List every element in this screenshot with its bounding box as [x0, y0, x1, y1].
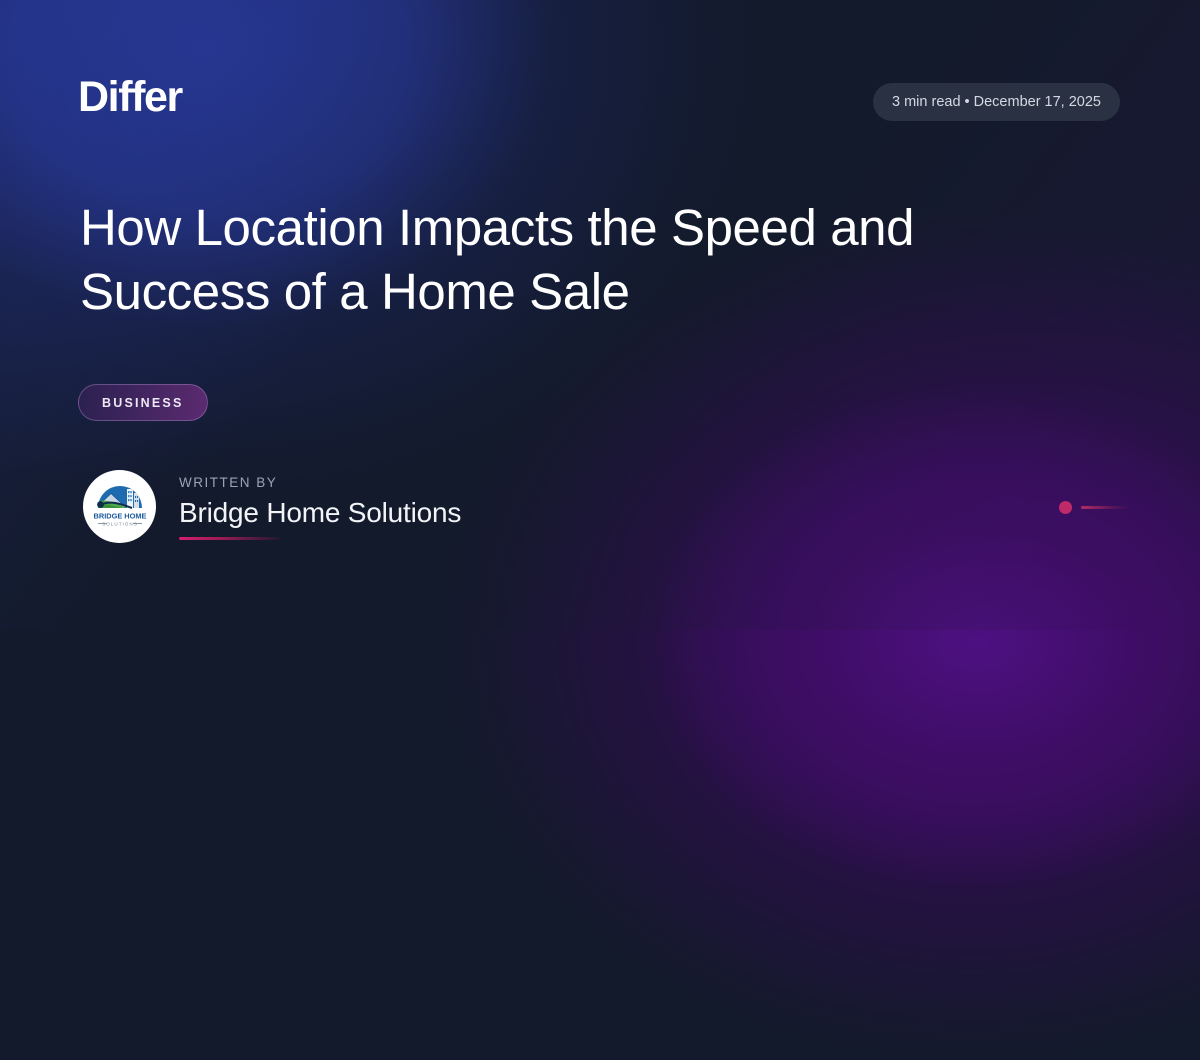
article-meta-badge: 3 min read • December 17, 2025 — [873, 83, 1120, 121]
meta-badge-label: 3 min read • December 17, 2025 — [892, 94, 1101, 110]
bridge-buildings-logo-icon: BRIDGE HOME SOLUTIONS — [91, 478, 149, 536]
written-by-label: WRITTEN BY — [179, 475, 461, 490]
avatar-logo-secondary-text: SOLUTIONS — [102, 521, 138, 526]
author-name[interactable]: Bridge Home Solutions — [179, 498, 461, 529]
avatar[interactable]: BRIDGE HOME SOLUTIONS — [83, 470, 156, 543]
category-badge[interactable]: BUSINESS — [78, 384, 208, 421]
article-cover-card: Differ 3 min read • December 17, 2025 Ho… — [0, 0, 1200, 630]
author-name-underline — [179, 537, 280, 540]
accent-line-icon — [1081, 506, 1129, 509]
page-title: How Location Impacts the Speed and Succe… — [80, 196, 980, 325]
author-details: WRITTEN BY Bridge Home Solutions — [179, 473, 461, 541]
decorative-accent — [1059, 501, 1129, 514]
avatar-logo-primary-text: BRIDGE HOME — [93, 511, 146, 520]
brand-logo[interactable]: Differ — [78, 76, 182, 119]
author-block: BRIDGE HOME SOLUTIONS WRITTEN BY Bridge … — [83, 470, 461, 543]
accent-dot-icon — [1059, 501, 1072, 514]
category-badge-label: BUSINESS — [102, 396, 184, 410]
